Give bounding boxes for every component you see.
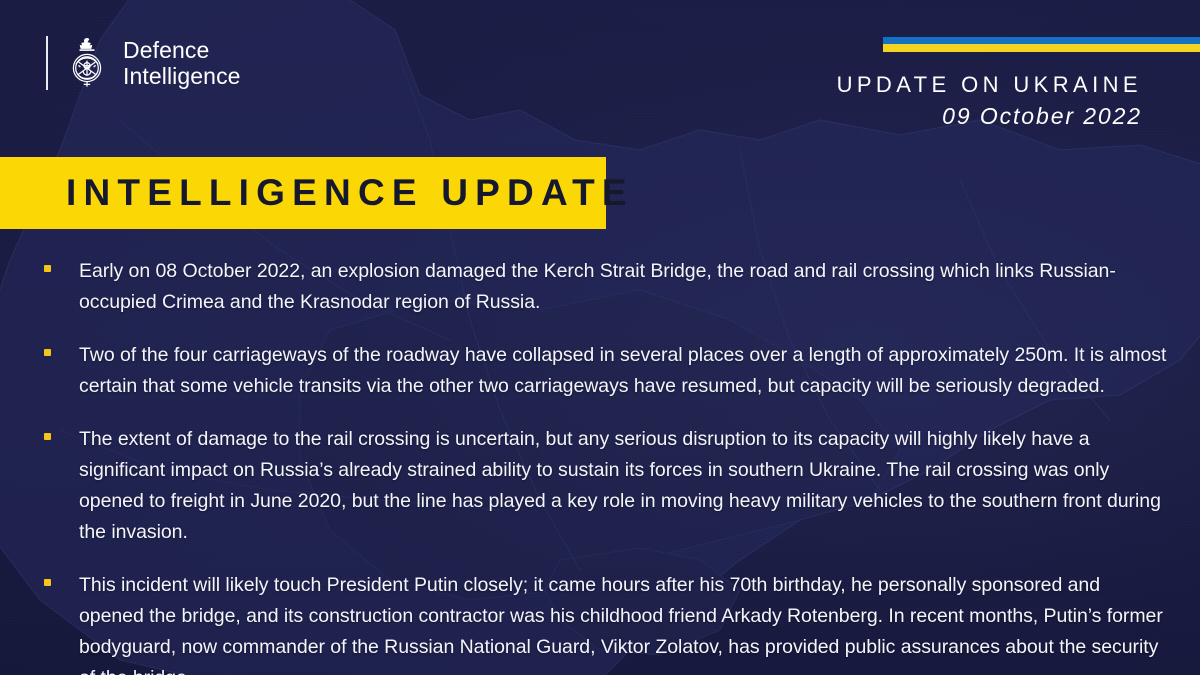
bullet-marker-icon <box>44 349 51 356</box>
bullet-list: Early on 08 October 2022, an explosion d… <box>40 256 1170 675</box>
list-item: Early on 08 October 2022, an explosion d… <box>40 256 1170 318</box>
header-right-block: UPDATE ON UKRAINE 09 October 2022 <box>837 72 1142 130</box>
list-item: The extent of damage to the rail crossin… <box>40 424 1170 548</box>
bullet-marker-icon <box>44 265 51 272</box>
brand-line-1: Defence <box>123 37 241 63</box>
page-title: INTELLIGENCE UPDATE <box>66 172 634 214</box>
defence-intelligence-crest-icon <box>64 36 110 90</box>
bullet-text: Early on 08 October 2022, an explosion d… <box>79 256 1170 318</box>
list-item: This incident will likely touch Presiden… <box>40 570 1170 675</box>
brand-name: Defence Intelligence <box>123 37 241 89</box>
flag-band-yellow <box>883 44 1200 52</box>
update-date: 09 October 2022 <box>837 103 1142 130</box>
brand-lockup: Defence Intelligence <box>46 36 241 90</box>
bullet-marker-icon <box>44 579 51 586</box>
bullet-text: Two of the four carriageways of the road… <box>79 340 1170 402</box>
bullet-text: This incident will likely touch Presiden… <box>79 570 1170 675</box>
flag-band-blue <box>883 37 1200 44</box>
brand-divider-rule <box>46 36 48 90</box>
bullet-text: The extent of damage to the rail crossin… <box>79 424 1170 548</box>
bullet-marker-icon <box>44 433 51 440</box>
brand-line-2: Intelligence <box>123 63 241 89</box>
ukraine-flag-bar-icon <box>883 37 1200 52</box>
update-on-ukraine-label: UPDATE ON UKRAINE <box>837 72 1142 98</box>
intelligence-update-slide: Defence Intelligence UPDATE ON UKRAINE 0… <box>0 0 1200 675</box>
list-item: Two of the four carriageways of the road… <box>40 340 1170 402</box>
intelligence-update-banner: INTELLIGENCE UPDATE <box>0 157 606 229</box>
